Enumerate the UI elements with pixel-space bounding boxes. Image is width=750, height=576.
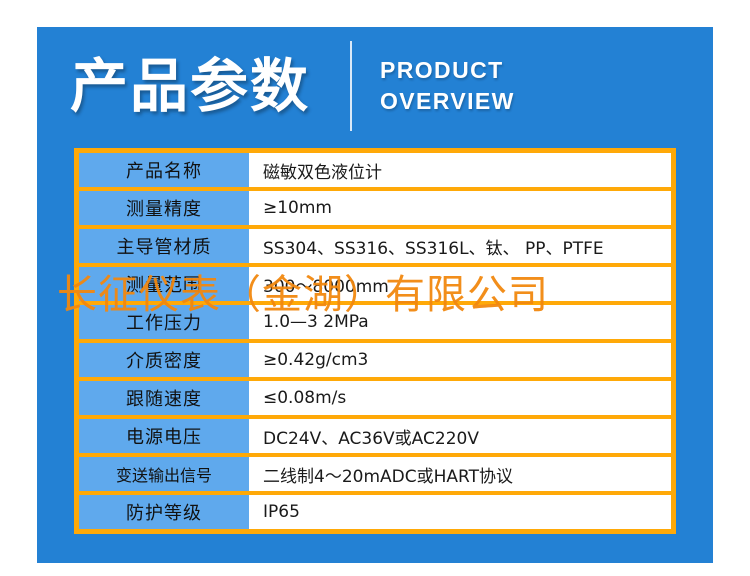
table-row: 工作压力 1.0—3 2MPa xyxy=(79,305,671,339)
spec-table: 产品名称 磁敏双色液位计 测量精度 ≥10mm 主导管材质 SS304、SS31… xyxy=(74,148,676,534)
spec-value: SS304、SS316、SS316L、钛、 PP、PTFE xyxy=(249,229,671,263)
spec-label: 工作压力 xyxy=(79,305,249,339)
table-row: 主导管材质 SS304、SS316、SS316L、钛、 PP、PTFE xyxy=(79,229,671,263)
spec-label: 产品名称 xyxy=(79,153,249,187)
table-row: 电源电压 DC24V、AC36V或AC220V xyxy=(79,419,671,453)
spec-value: ≥10mm xyxy=(249,191,671,225)
spec-value: ≥0.42g/cm3 xyxy=(249,343,671,377)
spec-label: 测量精度 xyxy=(79,191,249,225)
spec-value: ≤0.08m/s xyxy=(249,381,671,415)
table-row: 产品名称 磁敏双色液位计 xyxy=(79,153,671,187)
spec-label: 主导管材质 xyxy=(79,229,249,263)
page-title-en-line2: OVERVIEW xyxy=(380,86,515,117)
page-title-en-line1: PRODUCT xyxy=(380,55,515,86)
product-overview-page: 产品参数 PRODUCT OVERVIEW 产品名称 磁敏双色液位计 测量精度 … xyxy=(0,0,750,576)
table-row: 防护等级 IP65 xyxy=(79,495,671,529)
table-row: 测量精度 ≥10mm xyxy=(79,191,671,225)
header-divider xyxy=(350,41,352,131)
spec-label: 测量范围 xyxy=(79,267,249,301)
spec-value: IP65 xyxy=(249,495,671,529)
page-title-cn: 产品参数 xyxy=(70,57,310,115)
table-row: 测量范围 300～8000mm xyxy=(79,267,671,301)
spec-label: 防护等级 xyxy=(79,495,249,529)
spec-value: 300～8000mm xyxy=(249,267,671,301)
page-title-en: PRODUCT OVERVIEW xyxy=(380,55,515,117)
spec-label: 电源电压 xyxy=(79,419,249,453)
spec-value: 二线制4～20mADC或HART协议 xyxy=(249,457,671,491)
spec-value: DC24V、AC36V或AC220V xyxy=(249,419,671,453)
spec-value: 磁敏双色液位计 xyxy=(249,153,671,187)
page-header: 产品参数 PRODUCT OVERVIEW xyxy=(37,27,713,145)
spec-value: 1.0—3 2MPa xyxy=(249,305,671,339)
spec-label: 变送输出信号 xyxy=(79,457,249,491)
table-row: 介质密度 ≥0.42g/cm3 xyxy=(79,343,671,377)
table-row: 变送输出信号 二线制4～20mADC或HART协议 xyxy=(79,457,671,491)
table-row: 跟随速度 ≤0.08m/s xyxy=(79,381,671,415)
spec-label: 跟随速度 xyxy=(79,381,249,415)
spec-label: 介质密度 xyxy=(79,343,249,377)
